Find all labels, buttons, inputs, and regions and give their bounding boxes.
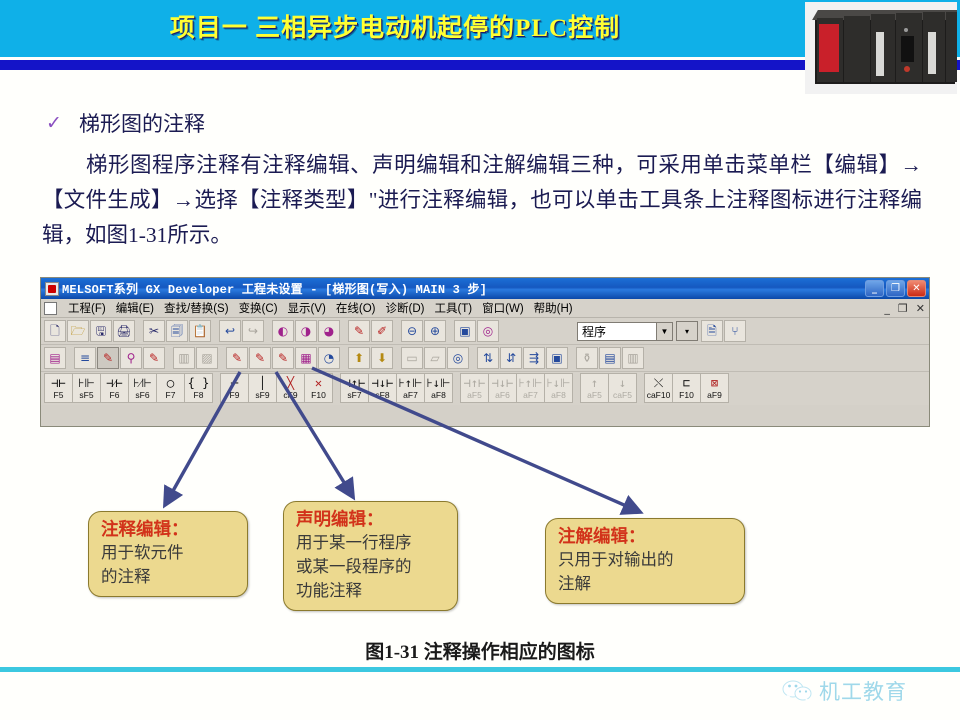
open-icon[interactable]: 🗁 (67, 320, 89, 342)
ladder-mode-icon[interactable]: ▤ (44, 347, 66, 369)
menu-item-edit[interactable]: 编辑(E) (111, 300, 159, 316)
rising-pulse-branch-icon: ⊦↑⊩ (399, 375, 423, 390)
horizontal-line-icon: ─ (231, 375, 238, 390)
pulse-up-arrow-icon: ↑ (591, 375, 598, 390)
mdi-close-button[interactable]: ✕ (912, 302, 929, 315)
rising-pulse-icon: ⊣↑⊢ (344, 375, 366, 390)
chevron-down-icon[interactable]: ▼ (656, 323, 672, 340)
contact-coil-icon: ▥ (173, 347, 195, 369)
ladder-tool-invert-pulse-3: ⊦↑⊩aF7 (516, 373, 545, 403)
device-memory-icon[interactable]: ▦ (295, 347, 317, 369)
ladder-tool-key: F7 (166, 391, 176, 400)
ladder-tool-application-instruction[interactable]: { }F8 (184, 373, 213, 403)
menu-item-diagnose[interactable]: 诊断(D) (380, 300, 429, 316)
document-icon (44, 302, 57, 315)
invert-pulse-3-icon: ⊦↑⊩ (519, 375, 543, 390)
menu-item-online[interactable]: 在线(O) (331, 300, 381, 316)
gx-window-title: MELSOFT系列 GX Developer 工程未设置 - [梯形图(写入) … (62, 280, 865, 297)
ladder-tool-key: cF9 (283, 391, 297, 400)
convert-all-icon[interactable]: ◕ (318, 320, 340, 342)
ladder-tool-rising-pulse[interactable]: ⊣↑⊢sF7 (340, 373, 369, 403)
copy-icon[interactable]: 🗐 (166, 320, 188, 342)
ladder-tool-key: F6 (110, 391, 120, 400)
ladder-tool-vertical-line[interactable]: │sF9 (248, 373, 277, 403)
callout-title: 声明编辑： (296, 507, 447, 531)
statement-show-icon: ▱ (424, 347, 446, 369)
delete-rung-icon: ⊠ (711, 375, 718, 390)
menu-item-view[interactable]: 显示(V) (283, 300, 331, 316)
callout-note-edit: 注解编辑： 只用于对输出的 注解 (545, 518, 745, 604)
write-plc-icon[interactable]: ⬇ (371, 347, 393, 369)
device-comment-edit-icon[interactable]: ✎ (226, 347, 248, 369)
vertical-line-icon: │ (259, 375, 266, 390)
ladder-tool-key: F10 (679, 391, 694, 400)
print-icon[interactable]: 🖨 (113, 320, 135, 342)
close-button[interactable]: ✕ (907, 280, 926, 297)
callout-statement-edit: 声明编辑： 用于某一行程序 或某一段程序的 功能注释 (283, 501, 458, 611)
application-instruction-icon: { } (188, 375, 210, 390)
ladder-tool-delete-vertical-line[interactable]: ✕F10 (304, 373, 333, 403)
menu-item-convert[interactable]: 变换(C) (234, 300, 283, 316)
menu-item-find[interactable]: 查找/替换(S) (159, 300, 234, 316)
invert-pulse-4-icon: ⊦↓⊩ (547, 375, 571, 390)
zoom-in-icon[interactable]: ⊕ (424, 320, 446, 342)
report-icon[interactable]: ▤ (599, 347, 621, 369)
rung-bar-icon: ⊏ (683, 375, 690, 390)
menu-item-help[interactable]: 帮助(H) (529, 300, 578, 316)
ladder-tool-key: aF9 (707, 391, 722, 400)
sort-icon[interactable]: ⇶ (523, 347, 545, 369)
mdi-restore-button[interactable]: ❐ (894, 302, 912, 315)
ladder-tool-key: caF10 (647, 391, 671, 400)
new-window-icon[interactable]: 🗎 (701, 320, 723, 342)
ladder-tool-closed-contact[interactable]: ⊣⁄⊢F6 (100, 373, 129, 403)
falling-pulse-branch-icon: ⊦↓⊩ (427, 375, 451, 390)
minimize-button[interactable]: _ (865, 280, 884, 297)
figure-caption: 图1-31 注释操作相应的图标 (0, 637, 960, 664)
invert-pulse-2-icon: ⊣↓⊢ (492, 375, 514, 390)
falling-pulse-icon: ⊣↓⊢ (372, 375, 394, 390)
ladder-tool-falling-pulse[interactable]: ⊣↓⊢sF8 (368, 373, 397, 403)
ladder-tool-key: F8 (194, 391, 204, 400)
undo-icon[interactable]: ↩ (219, 320, 241, 342)
mdi-minimize-button[interactable]: _ (880, 302, 894, 315)
footer-logo: 机工教育 (782, 676, 907, 706)
save-icon[interactable]: 🖫 (90, 320, 112, 342)
callout-comment-edit: 注释编辑： 用于软元件 的注释 (88, 511, 248, 597)
ladder-tool-horizontal-line[interactable]: ─F9 (220, 373, 249, 403)
step-down-icon[interactable]: ⇵ (500, 347, 522, 369)
cross-ref-icon: ▨ (196, 347, 218, 369)
ladder-tool-key: aF7 (403, 391, 418, 400)
convert-icon[interactable]: ◐ (272, 320, 294, 342)
ladder-tool-key: F5 (54, 391, 64, 400)
ladder-tool-rung-bar[interactable]: ⊏F10 (672, 373, 701, 403)
gx-client-area (41, 405, 929, 422)
bullet-heading: ✓ 梯形图的注释 (46, 108, 646, 138)
open-contact-branch-icon: ⊦⊩ (78, 375, 95, 390)
plc-module-photo (805, 2, 957, 94)
convert-write-icon[interactable]: ◑ (295, 320, 317, 342)
gx-toolbar-row-2: ▤≡✎⚲✎▥▨✎✎✎▦◔⬆⬇▭▱◎⇅⇵⇶▣⚱▤▥ (41, 345, 929, 372)
program-selector[interactable]: 程序▼ (577, 322, 673, 341)
instruction-search-icon[interactable]: ✎ (143, 347, 165, 369)
closed-contact-branch-icon: ⊦⁄⊩ (133, 375, 152, 390)
restore-button[interactable]: ❐ (886, 280, 905, 297)
gx-menu-bar: 工程(F) 编辑(E) 查找/替换(S) 变换(C) 显示(V) 在线(O) 诊… (41, 299, 929, 318)
closed-contact-icon: ⊣⁄⊢ (106, 375, 122, 390)
footer-brand: 机工教育 (819, 676, 907, 706)
ladder-tool-invert-pulse-4: ⊦↓⊩aF8 (544, 373, 573, 403)
menu-item-project[interactable]: 工程(F) (63, 300, 111, 316)
gx-title-bar: MELSOFT系列 GX Developer 工程未设置 - [梯形图(写入) … (41, 278, 929, 299)
list-mode-icon[interactable]: ≡ (74, 347, 96, 369)
device-search-icon[interactable]: ⚲ (120, 347, 142, 369)
gx-toolbar-row-1: 🗋🗁🖫🖨✂🗐📋↩↪◐◑◕✎✐⊖⊕▣◎程序▼▾🗎⑂ (41, 318, 929, 345)
ladder-tool-key: aF8 (431, 391, 446, 400)
comment-show-icon: ▭ (401, 347, 423, 369)
ladder-tool-key: sF8 (375, 391, 389, 400)
ladder-tool-key: caF5 (613, 391, 632, 400)
ladder-tool-invert-pulse-2: ⊣↓⊢aF6 (488, 373, 517, 403)
delete-vertical-line-icon: ✕ (315, 375, 322, 390)
gx-ladder-toolbar: ⊣⊢F5⊦⊩sF5⊣⁄⊢F6⊦⁄⊩sF6◯F7{ }F8─F9│sF9╳cF9✕… (41, 372, 929, 405)
app-icon (45, 282, 59, 296)
cut-icon[interactable]: ✂ (143, 320, 165, 342)
note-edit-icon[interactable]: ✎ (272, 347, 294, 369)
bullet-title: 梯形图的注释 (79, 108, 205, 138)
ladder-tool-key: aF5 (467, 391, 482, 400)
menu-item-tools[interactable]: 工具(T) (429, 300, 477, 316)
ladder-tool-pulse-down-arrow: ↓caF5 (608, 373, 637, 403)
redo-icon[interactable]: ↪ (242, 320, 264, 342)
statement-edit-icon[interactable]: ✎ (249, 347, 271, 369)
callout-body: 用于软元件 的注释 (101, 541, 237, 589)
gx-developer-window: MELSOFT系列 GX Developer 工程未设置 - [梯形图(写入) … (40, 277, 930, 427)
zoom-out-icon[interactable]: ⊖ (401, 320, 423, 342)
callout-body: 只用于对输出的 注解 (558, 548, 734, 596)
menu-item-window[interactable]: 窗口(W) (477, 300, 529, 316)
zoom-window-icon[interactable]: ▣ (546, 347, 568, 369)
project-tree-icon[interactable]: ⑂ (724, 320, 746, 342)
ladder-tool-key: aF7 (523, 391, 538, 400)
callout-body: 用于某一行程序 或某一段程序的 功能注释 (296, 531, 447, 603)
body-paragraph: 梯形图程序注释有注释编辑、声明编辑和注解编辑三种，可采用单击菜单栏【编辑】→【文… (42, 148, 922, 253)
ladder-tool-closed-contact-branch[interactable]: ⊦⁄⊩sF6 (128, 373, 157, 403)
monitor-write-icon[interactable]: ✐ (371, 320, 393, 342)
ladder-tool-coil[interactable]: ◯F7 (156, 373, 185, 403)
open-contact-icon: ⊣⊢ (51, 375, 65, 390)
comment-display-icon[interactable]: ✎ (97, 347, 119, 369)
callout-title: 注解编辑： (558, 524, 734, 548)
ladder-tool-open-contact-branch[interactable]: ⊦⊩sF5 (72, 373, 101, 403)
pulse-down-arrow-icon: ↓ (619, 375, 626, 390)
ladder-tool-invert-operation[interactable]: ⤬caF10 (644, 373, 673, 403)
program-selector-value: 程序 (582, 323, 606, 340)
ladder-tool-key: sF6 (135, 391, 149, 400)
invert-pulse-1-icon: ⊣↑⊢ (464, 375, 486, 390)
ladder-tool-key: aF5 (587, 391, 602, 400)
ladder-tool-key: F10 (311, 391, 326, 400)
find-device-icon[interactable]: ◎ (477, 320, 499, 342)
docs-icon: ▥ (622, 347, 644, 369)
ladder-tool-delete-horizontal-line[interactable]: ╳cF9 (276, 373, 305, 403)
ladder-tool-falling-pulse-branch[interactable]: ⊦↓⊩aF8 (424, 373, 453, 403)
note-show-icon[interactable]: ◎ (447, 347, 469, 369)
ladder-tool-key: F9 (230, 391, 240, 400)
monitor-icon[interactable]: ◔ (318, 347, 340, 369)
callout-title: 注释编辑： (101, 517, 237, 541)
window-split-icon[interactable]: ▣ (454, 320, 476, 342)
ladder-tool-key: sF7 (347, 391, 361, 400)
new-icon[interactable]: 🗋 (44, 320, 66, 342)
footer-rule (0, 667, 960, 672)
ladder-tool-invert-pulse-1: ⊣↑⊢aF5 (460, 373, 489, 403)
check-icon: ✓ (46, 112, 62, 134)
ladder-tool-key: sF5 (79, 391, 93, 400)
read-plc-icon[interactable]: ⬆ (348, 347, 370, 369)
wechat-icon (782, 680, 812, 702)
filter-icon: ⚱ (576, 347, 598, 369)
page-title: 项目一 三相异步电动机起停的PLC控制 (0, 8, 790, 44)
paste-icon[interactable]: 📋 (189, 320, 211, 342)
program-list-button[interactable]: ▾ (676, 321, 698, 341)
delete-horizontal-line-icon: ╳ (287, 375, 294, 390)
step-up-icon[interactable]: ⇅ (477, 347, 499, 369)
ladder-tool-key: aF6 (495, 391, 510, 400)
ladder-tool-delete-rung[interactable]: ⊠aF9 (700, 373, 729, 403)
invert-operation-icon: ⤬ (654, 375, 664, 390)
ladder-tool-key: sF9 (255, 391, 269, 400)
window-controls: _ ❐ ✕ (865, 280, 927, 297)
coil-icon: ◯ (167, 375, 174, 390)
ladder-tool-open-contact[interactable]: ⊣⊢F5 (44, 373, 73, 403)
ladder-tool-key: aF8 (551, 391, 566, 400)
ladder-tool-rising-pulse-branch[interactable]: ⊦↑⊩aF7 (396, 373, 425, 403)
ladder-tool-pulse-up-arrow: ↑aF5 (580, 373, 609, 403)
write-mode-icon[interactable]: ✎ (348, 320, 370, 342)
